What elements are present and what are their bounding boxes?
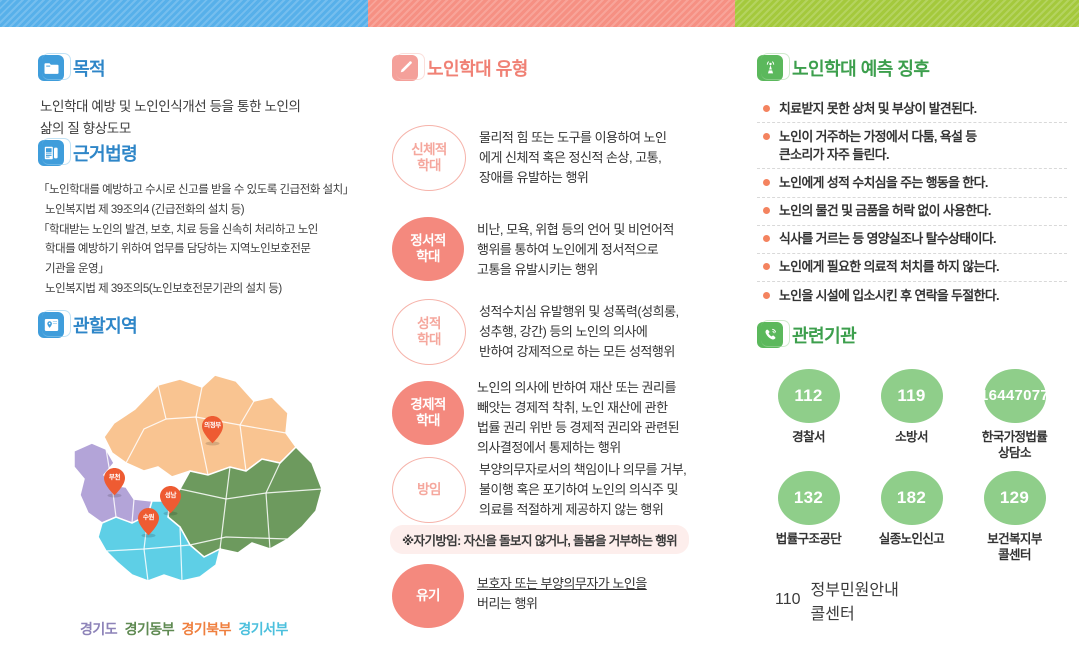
top-band-red [368,0,735,27]
warning-sign-line: 노인이 거주하는 가정에서 다툼, 욕설 등 [779,129,977,144]
org-item-health-welfare[interactable]: 129 보건복지부 콜센터 [963,471,1066,564]
map-pin-label: 수원 [136,511,161,521]
desc-line: 의료를 적절하게 제공하지 않는 행위 [479,500,686,520]
section-abuse-types-header: 노인학대 유형 [392,55,722,81]
section-abuse-types-underline [426,84,606,86]
abuse-type-label-line: 성적 [417,316,441,332]
desc-line: 부양의무자로서의 책임이나 의무를 거부, [479,460,686,480]
abuse-type-description: 보호자 또는 부양의무자가 노인을 버리는 행위 [477,564,647,614]
abuse-type-badge-emotional: 정서적 학대 [392,217,464,281]
desc-line: 고통을 유발시키는 행위 [477,260,674,280]
desc-line: 장애를 유발하는 행위 [479,168,666,188]
section-warning-signs-title: 노인학대 예측 징후 [792,55,929,81]
abuse-type-description: 비난, 모욕, 위협 등의 언어 및 비언어적 행위를 통하여 노인에게 정서적… [477,217,674,280]
top-band-green [735,0,1079,27]
org-item-missing-elderly[interactable]: 182 실종노인신고 [860,471,963,564]
purpose-line: 노인학대 예방 및 노인인식개선 등을 통한 노인의 [40,96,338,118]
abuse-type-row: 성적 학대 성적수치심 유발행위 및 성폭력(성희롱, 성추행, 강간) 등의 … [392,299,728,365]
abuse-type-badge-abandonment: 유기 [392,564,464,628]
law-line: 「노인학대를 예방하고 수시로 신고를 받을 수 있도록 긴급전화 설치」 [38,181,348,201]
section-purpose-body: 노인학대 예방 및 노인인식개선 등을 통한 노인의 삶의 질 향상도모 [40,96,338,141]
abuse-type-description: 성적수치심 유발행위 및 성폭력(성희롱, 성추행, 강간) 등의 노인의 의사… [479,299,679,362]
org-phone-bubble: 119 [881,369,943,423]
org-name: 보건복지부 콜센터 [963,531,1066,564]
abuse-type-description: 부양의무자로서의 책임이나 의무를 거부, 불이행 혹은 포기하여 노인의 의식… [479,457,686,520]
related-orgs-grid: 112 경찰서 119 소방서 1644 7077 한국가정법률 상담소 [757,369,1072,572]
bullet-icon [763,263,770,270]
section-related-orgs: 관련기관 112 경찰서 119 소방서 1644 7077 [757,322,1072,624]
org-name: 법률구조공단 [757,531,860,547]
folder-icon [38,55,64,81]
abuse-type-description: 노인의 의사에 반하여 재산 또는 권리를 빼앗는 경제적 착취, 노인 재산에… [477,375,679,459]
map-pin-seongnam[interactable]: 성남 [158,485,183,516]
org-name-line: 콜센터 [811,606,855,623]
warning-sign-text: 치료받지 못한 상처 및 부상이 발견된다. [779,100,977,118]
abuse-type-label-line: 학대 [416,249,440,265]
map-legend-item: 경기서부 [238,621,288,637]
section-law-underline [72,169,212,171]
top-color-bar [0,0,1079,27]
desc-line: 에게 신체적 혹은 정신적 손상, 고통, [479,148,666,168]
map-pin-uijeongbu[interactable]: 의정부 [200,415,225,446]
desc-line: 법률 권리 위반 등 경제적 권리와 관련된 [477,418,679,438]
section-region-underline [72,341,212,343]
map-pin-label: 부천 [102,471,127,481]
section-warning-signs-header: 노인학대 예측 징후 [757,55,1067,81]
org-phone-line: 7077 [1015,388,1050,403]
desc-line: 버리는 행위 [477,594,647,614]
warning-sign-text: 노인이 거주하는 가정에서 다툼, 욕설 등 큰소리가 자주 들린다. [779,128,977,164]
bullet-icon [763,133,770,140]
law-line: 학대를 예방하기 위하여 업무를 담당하는 지역노인보호전문 [38,240,348,260]
broadcast-tower-icon [757,55,783,81]
abuse-type-row: 방임 부양의무자로서의 책임이나 의무를 거부, 불이행 혹은 포기하여 노인의… [392,457,728,523]
org-name-line: 정부민원안내 [811,582,899,599]
abuse-type-description: 물리적 힘 또는 도구를 이용하여 노인 에게 신체적 혹은 정신적 손상, 고… [479,125,666,188]
warning-sign-text: 노인을 시설에 입소시킨 후 연락을 두절한다. [779,287,999,305]
org-phone-bubble: 110 [775,591,801,609]
org-name-line: 콜센터 [998,548,1031,562]
desc-line: 성추행, 강간) 등의 노인의 의사에 [479,322,679,342]
section-region-title: 관할지역 [73,312,137,338]
section-abuse-types: 노인학대 유형 [392,55,722,86]
abuse-type-row: 경제적 학대 노인의 의사에 반하여 재산 또는 권리를 빼앗는 경제적 착취,… [392,375,728,459]
abuse-type-label-line: 학대 [416,413,440,429]
abuse-type-label-line: 학대 [417,158,441,174]
desc-line: 비난, 모욕, 위협 등의 언어 및 비언어적 [477,220,674,240]
bullet-icon [763,207,770,214]
org-name: 소방서 [860,429,963,445]
phone-signal-icon [757,322,783,348]
org-phone-bubble: 182 [881,471,943,525]
infographic-page: 목적 노인학대 예방 및 노인인식개선 등을 통한 노인의 삶의 질 향상도모 [0,27,1079,657]
map-marker-icon [38,312,64,338]
section-warning-signs: 노인학대 예측 징후 치료받지 못한 상처 및 부상이 발견된다. 노인이 거주… [757,55,1067,309]
map-legend-item: 경기북부 [182,621,232,637]
abuse-type-label-line: 경제적 [410,397,445,413]
map-legend: 경기도 경기동부 경기북부 경기서부 [0,619,368,639]
bullet-icon [763,105,770,112]
desc-line: 반하여 강제적으로 하는 모든 성적행위 [479,342,679,362]
desc-line: 행위를 통하여 노인에게 정서적으로 [477,240,674,260]
abuse-type-row: 유기 보호자 또는 부양의무자가 노인을 버리는 행위 [392,564,728,628]
abuse-type-label-line: 방임 [417,482,441,498]
law-line: 노인복지법 제 39조의5(노인보호전문기관의 설치 등) [38,280,348,300]
self-neglect-note: ※자기방임: 자신을 돌보지 않거나, 돌봄을 거부하는 행위 [390,525,689,554]
map-pin-suwon[interactable]: 수원 [136,507,161,538]
section-law-header: 근거법령 [38,140,348,166]
warning-sign-item: 노인에게 성적 수치심을 주는 행동을 한다. [757,169,1067,197]
abuse-type-row: 신체적 학대 물리적 힘 또는 도구를 이용하여 노인 에게 신체적 혹은 정신… [392,125,728,191]
law-book-icon [38,140,64,166]
org-item-government-call-center[interactable]: 110 정부민원안내 콜센터 [775,576,1072,624]
section-law-body: 「노인학대를 예방하고 수시로 신고를 받을 수 있도록 긴급전화 설치」 노인… [38,181,348,300]
warning-sign-item: 노인이 거주하는 가정에서 다툼, 욕설 등 큰소리가 자주 들린다. [757,123,1067,169]
org-name: 한국가정법률 상담소 [963,429,1066,462]
warning-sign-item: 노인에게 필요한 의료적 처치를 하지 않는다. [757,254,1067,282]
section-related-orgs-header: 관련기관 [757,322,1072,348]
org-phone-bubble: 112 [778,369,840,423]
org-name: 실종노인신고 [860,531,963,547]
bullet-icon [763,292,770,299]
warning-sign-text: 식사를 거르는 등 영양실조나 탈수상태이다. [779,230,996,248]
org-name-line: 상담소 [998,446,1031,460]
top-band-blue [0,0,368,27]
org-phone-bubble: 129 [984,471,1046,525]
pencil-icon [392,55,418,81]
desc-line: 물리적 힘 또는 도구를 이용하여 노인 [479,128,666,148]
warning-sign-item: 치료받지 못한 상처 및 부상이 발견된다. [757,95,1067,123]
org-phone-bubble: 132 [778,471,840,525]
law-line: 노인복지법 제 39조의4 (긴급전화의 설치 등) [38,201,348,221]
org-item-family-law-counseling[interactable]: 1644 7077 한국가정법률 상담소 [963,369,1066,462]
warning-sign-line: 큰소리가 자주 들린다. [779,147,889,162]
law-line: 「학대받는 노인의 발견, 보호, 치료 등을 신속히 처리하고 노인 [38,221,348,241]
org-item-fire[interactable]: 119 소방서 [860,369,963,462]
bullet-icon [763,235,770,242]
warning-signs-list: 치료받지 못한 상처 및 부상이 발견된다. 노인이 거주하는 가정에서 다툼,… [757,95,1067,309]
map-pin-label: 의정부 [200,419,225,429]
abuse-type-badge-financial: 경제적 학대 [392,381,464,445]
section-related-orgs-underline [791,351,951,353]
purpose-line: 삶의 질 향상도모 [40,118,338,140]
warning-sign-text: 노인의 물건 및 금품을 허락 없이 사용한다. [779,202,991,220]
section-purpose-header: 목적 [38,55,338,81]
warning-sign-text: 노인에게 필요한 의료적 처치를 하지 않는다. [779,258,999,276]
desc-line: 성적수치심 유발행위 및 성폭력(성희롱, [479,302,679,322]
org-item-police[interactable]: 112 경찰서 [757,369,860,462]
desc-line: 보호자 또는 부양의무자가 노인을 [477,574,647,594]
law-line: 기관을 운영」 [38,260,348,280]
org-phone-bubble: 1644 7077 [984,369,1046,423]
abuse-type-badge-neglect: 방임 [392,457,466,523]
org-name-line: 보건복지부 [987,532,1042,546]
abuse-type-row: 정서적 학대 비난, 모욕, 위협 등의 언어 및 비언어적 행위를 통하여 노… [392,217,728,281]
section-law: 근거법령 「노인학대를 예방하고 수시로 신고를 받을 수 있도록 긴급전화 설… [38,140,348,300]
section-law-title: 근거법령 [73,140,137,166]
org-name: 경찰서 [757,429,860,445]
warning-sign-item: 식사를 거르는 등 영양실조나 탈수상태이다. [757,226,1067,254]
abuse-type-label-line: 학대 [417,332,441,348]
section-purpose-title: 목적 [73,55,105,81]
desc-line: 의사결정에서 통제하는 행위 [477,438,679,458]
warning-sign-text: 노인에게 성적 수치심을 주는 행동을 한다. [779,174,988,192]
org-item-legal-aid[interactable]: 132 법률구조공단 [757,471,860,564]
map-legend-item: 경기동부 [125,621,175,637]
warning-sign-item: 노인의 물건 및 금품을 허락 없이 사용한다. [757,198,1067,226]
desc-line: 빼앗는 경제적 착취, 노인 재산에 관한 [477,398,679,418]
section-purpose-underline [72,84,184,86]
warning-sign-item: 노인을 시설에 입소시킨 후 연락을 두절한다. [757,282,1067,309]
abuse-type-badge-physical: 신체적 학대 [392,125,466,191]
org-name-line: 한국가정법률 [982,430,1047,444]
abuse-type-label-line: 유기 [416,588,440,604]
map-pin-label: 성남 [158,489,183,499]
desc-line: 불이행 혹은 포기하여 노인의 의식주 및 [479,480,686,500]
section-abuse-types-title: 노인학대 유형 [427,55,528,81]
abuse-type-label-line: 정서적 [410,233,445,249]
gyeonggi-map: 의정부 부천 성남 수원 [40,367,340,617]
section-region: 관할지역 [38,312,348,343]
org-phone-line: 1644 [980,388,1015,403]
org-name: 정부민원안내 콜센터 [811,576,899,624]
section-warning-signs-underline [791,84,1006,86]
self-neglect-note-text: ※자기방임: 자신을 돌보지 않거나, 돌봄을 거부하는 행위 [390,525,689,554]
map-pin-bucheon[interactable]: 부천 [102,467,127,498]
section-purpose: 목적 노인학대 예방 및 노인인식개선 등을 통한 노인의 삶의 질 향상도모 [38,55,338,141]
desc-line: 노인의 의사에 반하여 재산 또는 권리를 [477,378,679,398]
abuse-type-label-line: 신체적 [411,142,446,158]
map-legend-item: 경기도 [80,621,117,637]
section-related-orgs-title: 관련기관 [792,322,856,348]
section-region-header: 관할지역 [38,312,348,338]
bullet-icon [763,179,770,186]
abuse-type-badge-sexual: 성적 학대 [392,299,466,365]
